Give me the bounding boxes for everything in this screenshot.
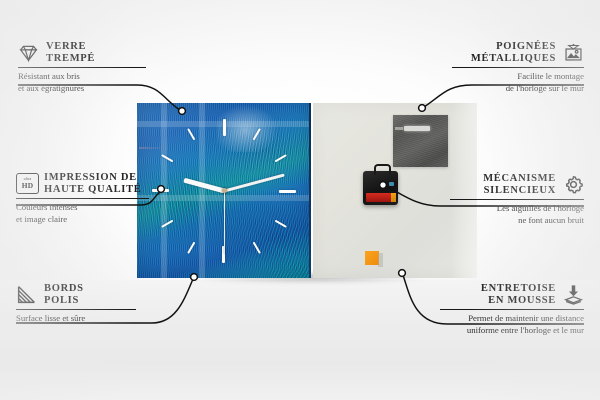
- callout-sub-line2: uniforme entre l'horloge et le mur: [440, 325, 584, 335]
- callout-title-line2: SILENCIEUX: [484, 185, 556, 196]
- callout-title-line1: BORDS: [44, 283, 84, 294]
- callout-sub-line1: Facilite le montage: [452, 71, 584, 81]
- gear-icon: [563, 174, 584, 195]
- mechanism-label: [389, 182, 394, 186]
- callout-verre-trempe: VERRE TREMPÉ Résistant aux bris et aux é…: [18, 41, 146, 93]
- callout-sub-line1: Surface lisse et sûre: [16, 313, 136, 323]
- callout-sub-line2: et aux égratignures: [18, 83, 146, 93]
- callout-sub-line1: Couleurs intenses: [16, 202, 149, 212]
- callout-rule: [18, 67, 146, 68]
- callout-bords-polis: BORDS POLIS Surface lisse et sûre: [16, 283, 136, 323]
- ultra-hd-badge-icon: ultra HD: [16, 173, 37, 194]
- callout-sub-line1: Permet de maintenir une distance: [440, 313, 584, 323]
- diamond-icon: [18, 42, 39, 63]
- callout-sub-line2: de l'horloge sur le mur: [452, 83, 584, 93]
- callout-title-line2: POLIS: [44, 295, 79, 306]
- clock-mechanism: [363, 171, 398, 205]
- callout-rule: [16, 309, 136, 310]
- arrow-press-stack-icon: [563, 284, 584, 305]
- callout-title-line1: MÉCANISME: [483, 173, 556, 184]
- callout-rule: [452, 67, 584, 68]
- callout-title-line2: MÉTALLIQUES: [471, 53, 556, 64]
- callout-rule: [450, 199, 584, 200]
- callout-entretoise-en-mousse: ENTRETOISE EN MOUSSE Permet de maintenir…: [440, 283, 584, 335]
- callout-title-line2: HAUTE QUALITÉ: [44, 184, 142, 195]
- clock-face: [137, 103, 311, 278]
- mechanism-hook: [374, 164, 391, 175]
- metal-hanger-plate: [393, 115, 448, 167]
- callout-sub-line1: Résistant aux bris: [18, 71, 146, 81]
- hanger-slot: [404, 126, 430, 131]
- callout-mecanisme-silencieux: MÉCANISME SILENCIEUX Les aiguilles de l'…: [450, 173, 584, 225]
- infographic-canvas: VERRE TREMPÉ Résistant aux bris et aux é…: [0, 0, 600, 400]
- clock-front-panel: [137, 103, 311, 278]
- callout-sub-line2: et image claire: [16, 214, 149, 224]
- callout-poignees-metalliques: POIGNÉES MÉTALLIQUES Facilite le montage…: [452, 41, 584, 93]
- badge-text-hd: HD: [22, 182, 34, 189]
- foam-spacer: [365, 251, 379, 265]
- callout-title-line1: ENTRETOISE: [481, 283, 556, 294]
- center-cap: [222, 188, 227, 193]
- callout-impression-haute-qualite: ultra HD IMPRESSION DE HAUTE QUALITÉ Cou…: [16, 172, 149, 224]
- framed-picture-on-nail-icon: [563, 42, 584, 63]
- callout-title-line2: EN MOUSSE: [488, 295, 556, 306]
- battery: [366, 193, 393, 202]
- callout-rule: [440, 309, 584, 310]
- callout-title-line2: TREMPÉ: [46, 53, 95, 64]
- callout-sub-line1: Les aiguilles de l'horloge: [450, 203, 584, 213]
- second-hand: [224, 191, 225, 255]
- callout-rule: [16, 198, 149, 199]
- callout-title-line1: POIGNÉES: [496, 41, 556, 52]
- product-image: [137, 103, 477, 278]
- polished-edge-hatch-icon: [16, 284, 37, 305]
- callout-title-line1: IMPRESSION DE: [44, 172, 137, 183]
- callout-title-line1: VERRE: [46, 41, 86, 52]
- callout-sub-line2: ne font aucun bruit: [450, 215, 584, 225]
- panel-edge: [309, 103, 311, 278]
